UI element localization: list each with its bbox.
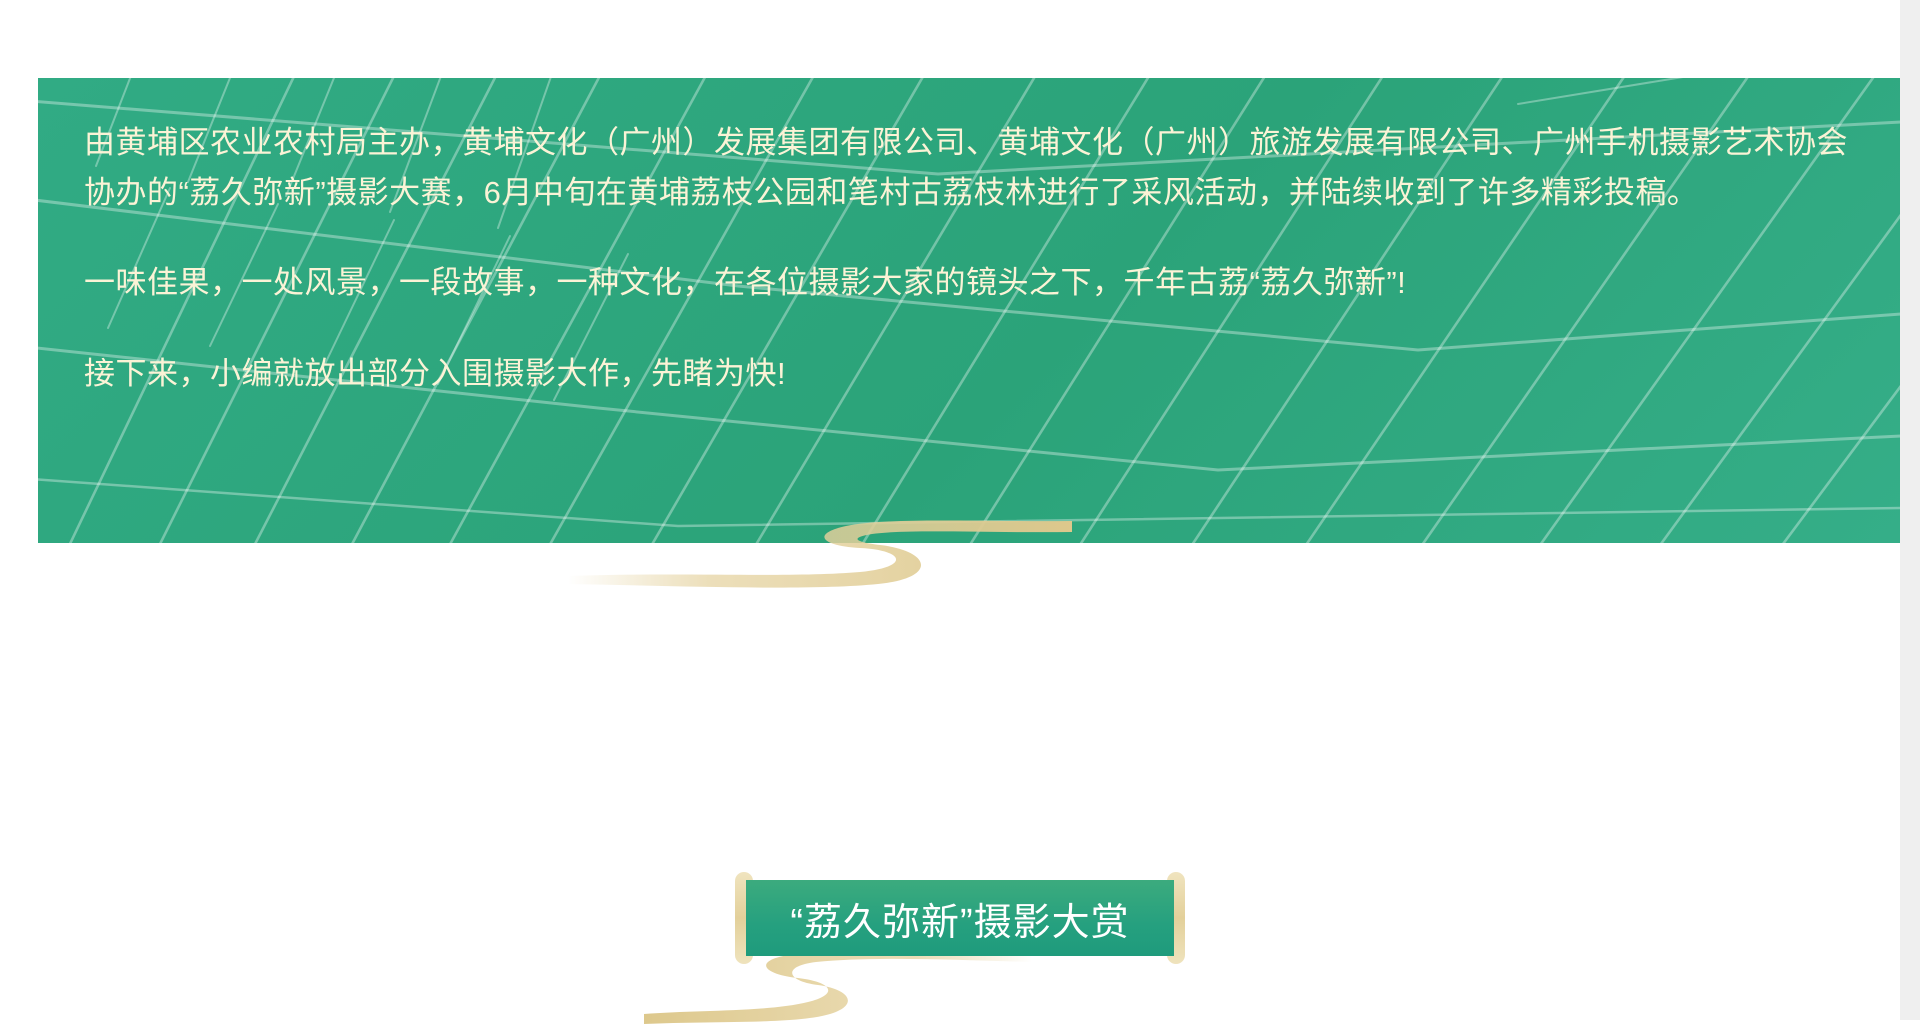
page-right-gutter (1900, 0, 1920, 1020)
intro-paragraph-1: 由黄埔区农业农村局主办，黄埔文化（广州）发展集团有限公司、黄埔文化（广州）旅游发… (84, 118, 1855, 218)
section-title-plaque[interactable]: “荔久弥新”摄影大赏 (735, 872, 1185, 964)
intro-paragraph-2: 一味佳果，一处风景，一段故事，一种文化，在各位摄影大家的镜头之下，千年古荔“荔久… (84, 258, 1855, 308)
article-page: 由黄埔区农业农村局主办，黄埔文化（广州）发展集团有限公司、黄埔文化（广州）旅游发… (0, 0, 1920, 1020)
intro-paragraph-3: 接下来，小编就放出部分入围摄影大作，先睹为快! (84, 349, 1855, 399)
section-title-label: “荔久弥新”摄影大赏 (790, 891, 1129, 946)
intro-body: 由黄埔区农业农村局主办，黄埔文化（广州）发展集团有限公司、黄埔文化（广州）旅游发… (38, 78, 1901, 409)
intro-panel: 由黄埔区农业农村局主办，黄埔文化（广州）发展集团有限公司、黄埔文化（广州）旅游发… (38, 78, 1901, 543)
